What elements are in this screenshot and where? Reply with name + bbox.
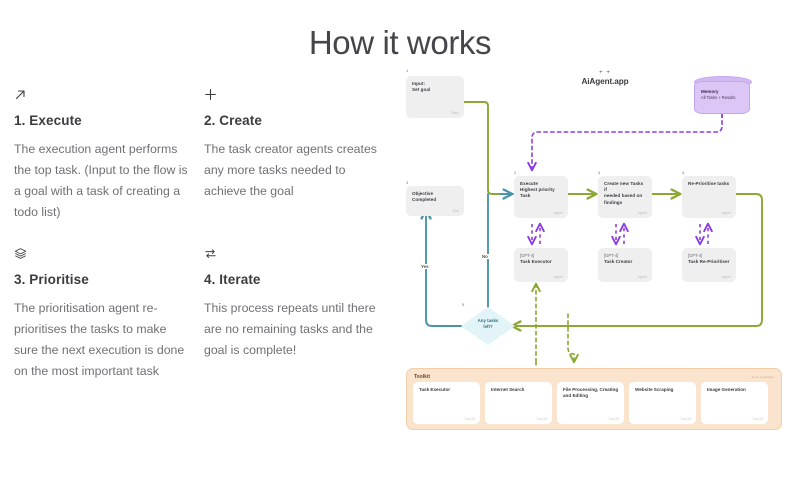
memory-node[interactable]: Memory All Tasks + Results (694, 81, 750, 114)
tool-card[interactable]: File Processing, Creating and Editing To… (557, 382, 624, 424)
page-title: How it works (0, 24, 800, 62)
tool-footer: Tool #1 (465, 417, 475, 421)
decision-label: Any tasks left? (462, 318, 514, 330)
brand-plus-icon: + + (550, 70, 660, 77)
brand-name: AiAgent.app (550, 77, 660, 86)
node-footer: Agent (722, 211, 731, 215)
tool-title: Task Executor (419, 387, 475, 393)
decision-badge: 5 (462, 302, 464, 307)
node-badge: 3 (598, 170, 600, 175)
edge-label-no: No (481, 254, 489, 259)
node-footer: Agent (554, 211, 563, 215)
feature-execute: 1. Execute The execution agent performs … (14, 88, 204, 223)
feature-title: 3. Prioritise (14, 272, 192, 287)
feature-title: 1. Execute (14, 113, 192, 128)
node-title: Re-Prioritise tasks (688, 181, 731, 187)
feature-body: The prioritisation agent re-prioritises … (14, 298, 192, 382)
node-subtitle: Highest priority Task (520, 187, 563, 199)
node-input-set-goal[interactable]: Input: Set goal Start (406, 76, 464, 118)
feature-prioritise: 3. Prioritise The prioritisation agent r… (14, 247, 204, 382)
node-title: Create new Tasks if (604, 181, 647, 193)
feature-body: The task creator agents creates any more… (204, 139, 382, 202)
node-subtitle: needed based on findings (604, 193, 647, 205)
tool-title: Internet Search (491, 387, 547, 393)
tool-card[interactable]: Image Generation Tool #5 (701, 382, 768, 424)
architecture-diagram: + + AiAgent.app Memory All Tasks + Resul… (400, 62, 792, 434)
tool-footer: Tool #3 (609, 417, 619, 421)
tool-card[interactable]: Website Scraping Tool #4 (629, 382, 696, 424)
node-subtitle: Completed (412, 197, 459, 203)
plus-icon (204, 88, 382, 106)
repeat-icon (204, 247, 382, 265)
node-footer: Agent (722, 275, 731, 279)
node-create-new-tasks[interactable]: Create new Tasks if needed based on find… (598, 176, 652, 218)
tool-card[interactable]: Task Executor Tool #1 (413, 382, 480, 424)
tool-footer: Tool #4 (681, 417, 691, 421)
feature-create: 2. Create The task creator agents create… (204, 88, 394, 223)
node-footer: Agent (554, 275, 563, 279)
tool-title: Website Scraping (635, 387, 691, 393)
decision-line2: left? (462, 324, 514, 330)
tool-footer: Tool #5 (753, 417, 763, 421)
node-title: Task Creator (604, 259, 647, 265)
toolkit-label: Toolkit (414, 374, 430, 380)
node-execute-highest-priority-task[interactable]: Execute Highest priority Task Agent (514, 176, 568, 218)
node-badge: 1 (406, 68, 408, 73)
layers-icon (14, 247, 192, 265)
node-badge: 3 (406, 180, 408, 185)
feature-body: This process repeats until there are no … (204, 298, 382, 361)
arrow-up-right-icon (14, 88, 192, 106)
tool-title: Image Generation (707, 387, 763, 393)
features-grid: 1. Execute The execution agent performs … (14, 88, 394, 382)
feature-body: The execution agent performs the top tas… (14, 139, 192, 223)
node-gpt4-task-executor[interactable]: [GPT-4] Task Executor Agent (514, 248, 568, 282)
node-footer: Agent (638, 211, 647, 215)
brand-logo: + + AiAgent.app (550, 70, 660, 86)
tool-title: File Processing, Creating and Editing (563, 387, 619, 399)
feature-iterate: 4. Iterate This process repeats until th… (204, 247, 394, 382)
memory-subtitle: All Tasks + Results (701, 95, 743, 101)
node-badge: 4 (682, 170, 684, 175)
node-subtitle: Set goal (412, 87, 459, 93)
node-title: Task Re-Prioritiser (688, 259, 731, 265)
tool-card[interactable]: Internet Search Tool #2 (485, 382, 552, 424)
feature-title: 2. Create (204, 113, 382, 128)
node-title: Task Executor (520, 259, 563, 265)
node-gpt4-task-creator[interactable]: [GPT-4] Task Creator Agent (598, 248, 652, 282)
node-gpt4-task-re-prioritiser[interactable]: [GPT-4] Task Re-Prioritiser Agent (682, 248, 736, 282)
feature-title: 4. Iterate (204, 272, 382, 287)
node-re-prioritise-tasks[interactable]: Re-Prioritise tasks Agent (682, 176, 736, 218)
node-footer: Start (451, 111, 459, 115)
node-objective-completed[interactable]: Objective Completed End (406, 186, 464, 216)
tool-footer: Tool #2 (537, 417, 547, 421)
edge-label-yes: Yes (420, 264, 430, 269)
node-badge: 2 (514, 170, 516, 175)
toolkit-meta: Tools available (751, 375, 774, 379)
node-footer: Agent (638, 275, 647, 279)
node-footer: End (453, 209, 459, 213)
